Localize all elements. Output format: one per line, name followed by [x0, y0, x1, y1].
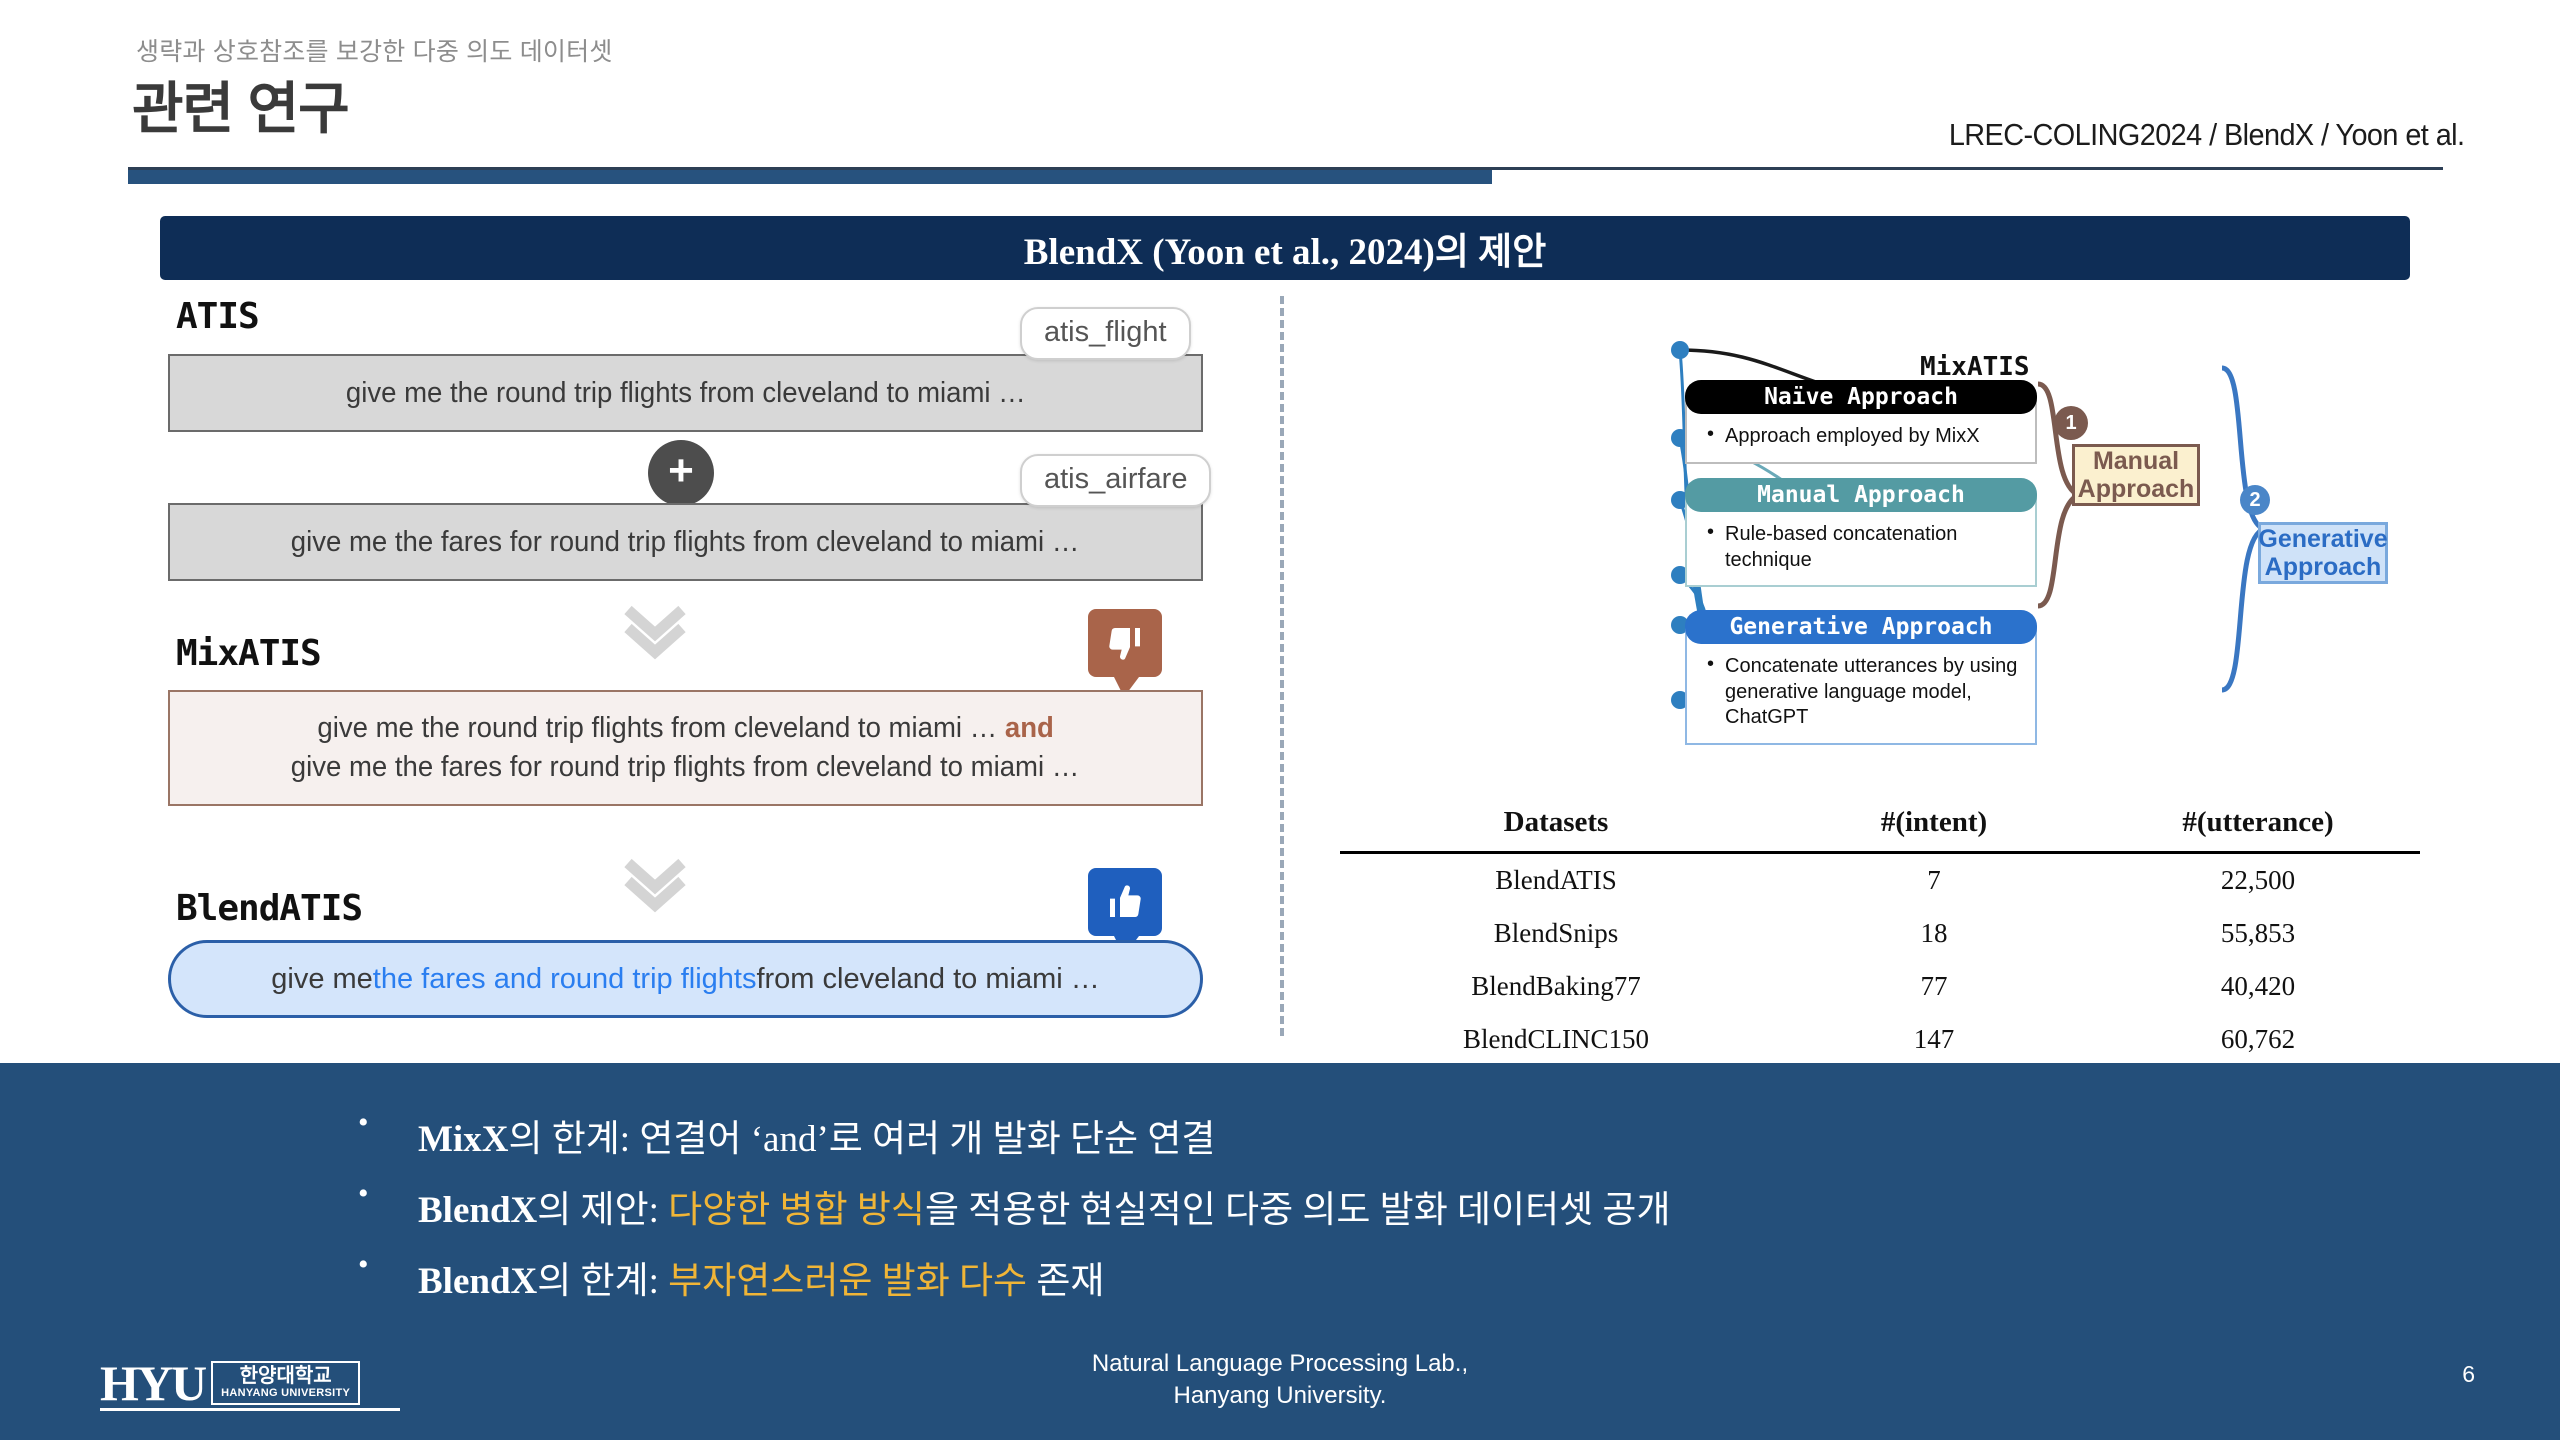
- table-cell-dataset-1: BlendSnips: [1340, 907, 1772, 960]
- table-cell-intent-3: 147: [1772, 1013, 2096, 1068]
- table-cell-dataset-0: BlendATIS: [1340, 853, 1772, 908]
- blendatis-prefix: give me: [271, 963, 373, 996]
- atis-label: ATIS: [176, 296, 259, 337]
- side-gen-line1: Generative: [2258, 525, 2387, 553]
- table-col-intent: #(intent): [1772, 798, 2096, 853]
- blendatis-utterance: give me the fares and round trip flights…: [168, 940, 1203, 1018]
- chevron-down-icon-2: [620, 857, 690, 915]
- table-cell-utterance-0: 22,500: [2096, 853, 2420, 908]
- conclusion-1-gold: 다양한 병합 방식: [668, 1190, 925, 1231]
- conclusion-2-gold: 부자연스러운 발화 다수: [668, 1261, 1027, 1302]
- table-col-datasets: Datasets: [1340, 798, 1772, 853]
- conclusion-2-strong: BlendX: [418, 1261, 537, 1302]
- list-item: MixX의 한계: 연결어 ‘and’로 여러 개 발화 단순 연결: [350, 1108, 1671, 1162]
- table-row: BlendCLINC150 147 60,762: [1340, 1013, 2420, 1068]
- blendatis-label: BlendATIS: [176, 888, 362, 929]
- atis-utterance-2: give me the fares for round trip flights…: [168, 503, 1203, 581]
- conclusion-0-normal1: 의 한계: 연결어 ‘and’로 여러 개 발화 단순 연결: [508, 1119, 1215, 1160]
- conclusion-list: MixX의 한계: 연결어 ‘and’로 여러 개 발화 단순 연결 Blend…: [350, 1108, 1671, 1321]
- table-cell-intent-0: 7: [1772, 853, 2096, 908]
- table-cell-utterance-3: 60,762: [2096, 1013, 2420, 1068]
- badge-number-2: 2: [2240, 485, 2270, 515]
- footer-line-2: Hanyang University.: [0, 1380, 2560, 1412]
- plus-icon: +: [648, 440, 714, 506]
- approach-title-0: Naïve Approach: [1685, 380, 2037, 414]
- badge-number-1: 1: [2054, 406, 2088, 440]
- side-gen-line2: Approach: [2265, 553, 2382, 581]
- mixatis-line-1-text: give me the round trip flights from clev…: [317, 712, 1005, 744]
- table-cell-utterance-2: 40,420: [2096, 960, 2420, 1013]
- page-number: 6: [2462, 1361, 2475, 1388]
- conclusion-1-normal2: 을 적용한 현실적인 다중 의도 발화 데이터셋 공개: [925, 1190, 1671, 1231]
- mixatis-utterance: give me the round trip flights from clev…: [168, 690, 1203, 806]
- left-panel: ATIS give me the round trip flights from…: [0, 0, 1280, 1060]
- mixatis-line-1: give me the round trip flights from clev…: [317, 709, 1053, 748]
- conclusion-1-normal1: 의 제안:: [537, 1190, 668, 1231]
- table-cell-intent-1: 18: [1772, 907, 2096, 960]
- approach-title-2: Generative Approach: [1685, 610, 2037, 644]
- table-cell-utterance-1: 55,853: [2096, 907, 2420, 960]
- slide: 생략과 상호참조를 보강한 다중 의도 데이터셋 관련 연구 LREC-COLI…: [0, 0, 2560, 1440]
- table-cell-dataset-3: BlendCLINC150: [1340, 1013, 1772, 1068]
- conclusion-2-normal2: 존재: [1027, 1261, 1104, 1302]
- table-header-row: Datasets #(intent) #(utterance): [1340, 798, 2420, 853]
- footer-line-1: Natural Language Processing Lab.,: [0, 1348, 2560, 1380]
- list-item: BlendX의 한계: 부자연스러운 발화 다수 존재: [350, 1250, 1671, 1304]
- atis-utterance-1: give me the round trip flights from clev…: [168, 354, 1203, 432]
- conclusion-2-normal1: 의 한계:: [537, 1261, 668, 1302]
- side-manual-line1: Manual: [2093, 447, 2179, 475]
- table-cell-intent-2: 77: [1772, 960, 2096, 1013]
- approach-bullet-2: Concatenate utterances by using generati…: [1705, 654, 2021, 731]
- table-row: BlendATIS 7 22,500: [1340, 853, 2420, 908]
- plus-symbol: +: [668, 449, 694, 493]
- chevron-down-icon: [620, 604, 690, 662]
- approach-title-1: Manual Approach: [1685, 478, 2037, 512]
- table-row: BlendBaking77 77 40,420: [1340, 960, 2420, 1013]
- side-manual-line2: Approach: [2078, 475, 2195, 503]
- atis-utterance-2-text: give me the fares for round trip flights…: [291, 526, 1080, 559]
- datasets-table: Datasets #(intent) #(utterance) BlendATI…: [1340, 798, 2420, 1069]
- thumbs-down-icon: [1088, 609, 1162, 677]
- approach-card-manual: Manual Approach Rule-based concatenation…: [1685, 478, 2037, 587]
- table-row: BlendSnips 18 55,853: [1340, 907, 2420, 960]
- table-cell-dataset-2: BlendBaking77: [1340, 960, 1772, 1013]
- conclusion-1-strong: BlendX: [418, 1190, 537, 1231]
- approach-body-2: Concatenate utterances by using generati…: [1685, 628, 2037, 745]
- side-label-generative-approach: Generative Approach: [2258, 522, 2388, 584]
- atis-tag-airfare: atis_airfare: [1020, 454, 1211, 507]
- approach-card-generative: Generative Approach Concatenate utteranc…: [1685, 610, 2037, 745]
- list-item: BlendX의 제안: 다양한 병합 방식을 적용한 현실적인 다중 의도 발화…: [350, 1179, 1671, 1233]
- atis-utterance-1-text: give me the round trip flights from clev…: [346, 377, 1026, 410]
- mixatis-and-keyword: and: [1005, 712, 1054, 744]
- approach-card-naive: Naïve Approach Approach employed by MixX: [1685, 380, 2037, 464]
- approach-bullet-0: Approach employed by MixX: [1705, 424, 2021, 450]
- mixatis-diagram-title: MixATIS: [1920, 352, 2030, 382]
- table-col-utterance: #(utterance): [2096, 798, 2420, 853]
- mixatis-label: MixATIS: [176, 633, 321, 674]
- blendatis-suffix: from cleveland to miami …: [756, 963, 1099, 996]
- side-label-manual-approach: Manual Approach: [2072, 444, 2200, 506]
- thumbs-up-icon: [1088, 868, 1162, 936]
- mixatis-line-2: give me the fares for round trip flights…: [291, 748, 1080, 787]
- atis-tag-flight: atis_flight: [1020, 307, 1191, 360]
- footer-affiliation: Natural Language Processing Lab., Hanyan…: [0, 1348, 2560, 1411]
- blendatis-highlight: the fares and round trip flights: [373, 963, 757, 996]
- conclusion-0-strong: MixX: [418, 1119, 508, 1160]
- approach-bullet-1: Rule-based concatenation technique: [1705, 522, 2021, 573]
